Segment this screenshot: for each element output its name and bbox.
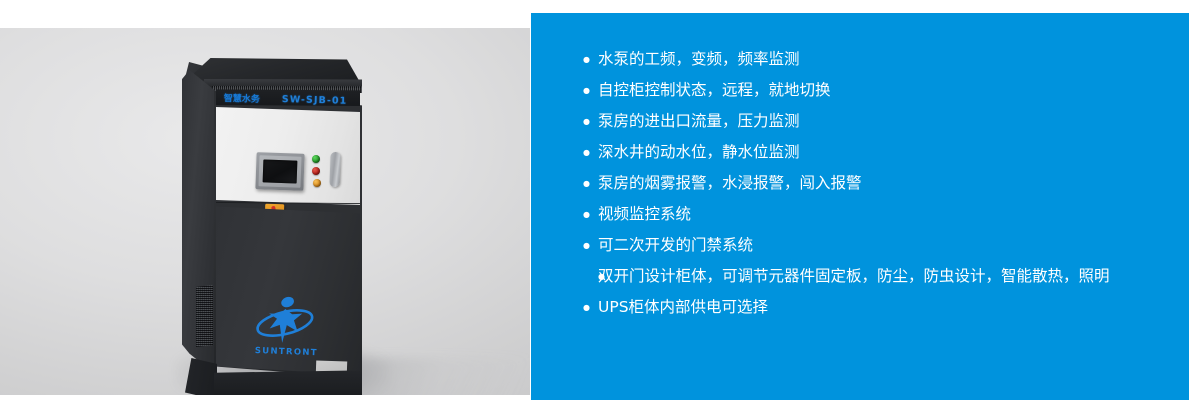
red-lamp-icon [312,167,320,175]
list-item: 可二次开发的门禁系统 [583,230,1153,261]
suntront-logo-icon [253,289,317,349]
feature-list: 水泵的工频，变频，频率监测 自控柜控制状态，远程，就地切换 泵房的进出口流量，压… [583,44,1153,323]
feature-list-panel: 水泵的工频，变频，频率监测 自控柜控制状态，远程，就地切换 泵房的进出口流量，压… [531,13,1189,400]
list-item: UPS柜体内部供电可选择 [583,292,1153,323]
side-vent-grille [196,285,213,347]
cabinet-plinth-side [185,358,217,395]
list-item: 泵房的烟雾报警，水浸报警，闯入报警 [583,168,1153,199]
hmi-touchscreen [255,152,304,191]
hmi-screen [263,159,298,183]
product-image-panel: 智慧水务 SW-SJB-01 [0,28,530,395]
cabinet-model-label: SW-SJB-01 [282,94,348,107]
green-lamp-icon [312,155,320,163]
list-item: 泵房的进出口流量，压力监测 [583,106,1153,137]
list-item: 双开门设计柜体，可调节元器件固定板，防尘，防虫设计，智能散热，照明 [583,261,1153,292]
control-cabinet: 智慧水务 SW-SJB-01 [176,58,406,395]
cabinet-brand-label: 智慧水务 [224,91,260,105]
list-item: 深水井的动水位，静水位监测 [583,137,1153,168]
upper-door-handle [329,152,340,187]
cabinet-side-panel [182,70,216,375]
cabinet-plinth-front [214,370,362,395]
hmi-inner-bezel [258,155,301,187]
list-item: 视频监控系统 [583,199,1153,230]
list-item: 水泵的工频，变频，频率监测 [583,44,1153,75]
list-item: 自控柜控制状态，远程，就地切换 [583,75,1153,106]
amber-lamp-icon [313,179,321,187]
suntront-logo-text: SUNTRONT [255,346,318,358]
